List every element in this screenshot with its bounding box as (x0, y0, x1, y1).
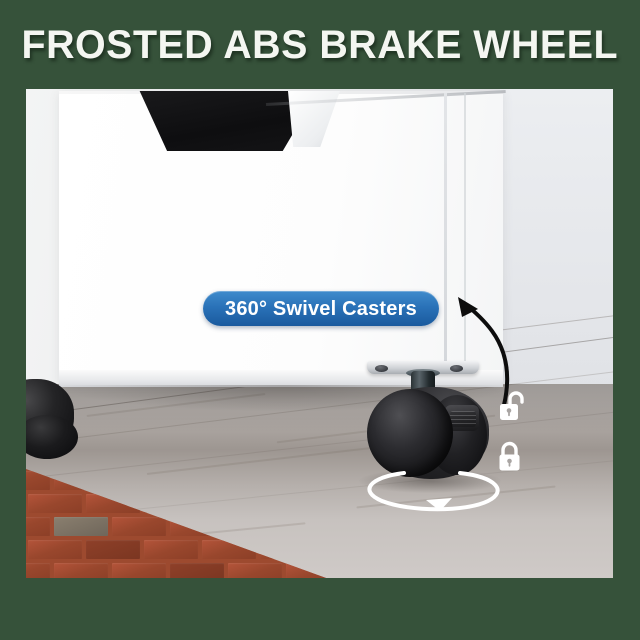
cabinet-panel-seam (444, 93, 447, 385)
unlock-icon (498, 391, 528, 425)
swivel-casters-badge[interactable]: 360° Swivel Casters (203, 291, 439, 326)
caster-wheel-main (353, 361, 501, 489)
badge-label: 360° Swivel Casters (225, 299, 417, 319)
title-bar: FROSTED ABS BRAKE WHEEL (0, 0, 640, 89)
product-feature-poster: FROSTED ABS BRAKE WHEEL (0, 0, 640, 640)
caster-screw (375, 365, 388, 372)
lock-icon (498, 441, 528, 475)
caster-wheel-left (26, 379, 94, 459)
caster-screw (450, 365, 463, 372)
cabinet-panel-seam-secondary (464, 93, 466, 385)
page-title: FROSTED ABS BRAKE WHEEL (22, 25, 619, 65)
caster-brake-grip (450, 411, 476, 427)
product-photo: 360° Swivel Casters (26, 89, 613, 578)
